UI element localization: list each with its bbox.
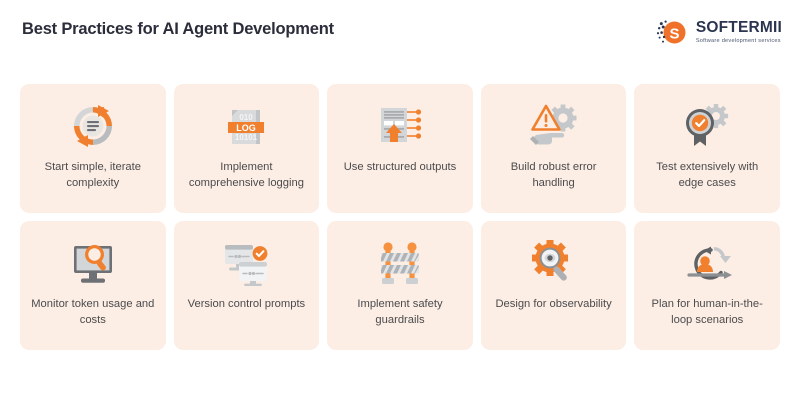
practice-card-label: Start simple, iterate complexity — [28, 160, 158, 192]
practice-card-5: Test extensively with edge cases — [634, 84, 780, 213]
log-file-icon: 010 10101 LOG — [182, 98, 312, 154]
svg-text:S: S — [669, 25, 679, 42]
practice-card-label: Implement safety guardrails — [335, 297, 465, 329]
practice-card-6: Monitor token usage and costs — [20, 221, 166, 350]
road-barrier-icon — [335, 235, 465, 291]
practice-card-label: Version control prompts — [186, 297, 308, 313]
version-control-screens-check-icon — [182, 235, 312, 291]
softermii-s-logo-icon: S — [655, 15, 689, 49]
practice-card-label: Implement comprehensive logging — [182, 160, 312, 192]
practice-card-7: Version control prompts — [174, 221, 320, 350]
gear-magnifier-eye-icon — [489, 235, 619, 291]
cycle-arrows-document-icon — [28, 98, 158, 154]
human-in-the-loop-icon — [642, 235, 772, 291]
infographic-page: Best Practices for AI Agent Development … — [0, 0, 800, 400]
practice-card-2: 010 10101 LOG Implement comprehensive lo… — [174, 84, 320, 213]
practice-card-label: Design for observability — [493, 297, 613, 313]
practice-card-label: Use structured outputs — [342, 160, 459, 176]
brand-logo: S SOFTERMII Software development service… — [655, 15, 782, 49]
best-practices-grid: Start simple, iterate complexity 010 101… — [20, 84, 780, 350]
page-title: Best Practices for AI Agent Development — [22, 20, 334, 39]
warning-gear-hand-icon — [489, 98, 619, 154]
practice-card-3: Use structured outputs — [327, 84, 473, 213]
monitor-magnifier-icon — [28, 235, 158, 291]
header: Best Practices for AI Agent Development … — [0, 0, 800, 70]
practice-card-label: Test extensively with edge cases — [642, 160, 772, 192]
practice-card-label: Plan for human-in-the-loop scenarios — [642, 297, 772, 329]
practice-card-9: Design for observability — [481, 221, 627, 350]
logo-tagline: Software development services — [696, 38, 782, 44]
practice-card-4: Build robust error handling — [481, 84, 627, 213]
practice-card-label: Build robust error handling — [489, 160, 619, 192]
log-binary-bottom: 10101 — [235, 133, 258, 142]
practice-card-1: Start simple, iterate complexity — [20, 84, 166, 213]
award-badge-check-gear-icon — [642, 98, 772, 154]
practice-card-10: Plan for human-in-the-loop scenarios — [634, 221, 780, 350]
practice-card-8: Implement safety guardrails — [327, 221, 473, 350]
structured-output-document-icon — [335, 98, 465, 154]
practice-card-label: Monitor token usage and costs — [28, 297, 158, 329]
log-binary-top: 010 — [240, 113, 254, 122]
logo-wordmark: SOFTERMII — [696, 20, 782, 36]
log-banner-text: LOG — [237, 123, 257, 133]
